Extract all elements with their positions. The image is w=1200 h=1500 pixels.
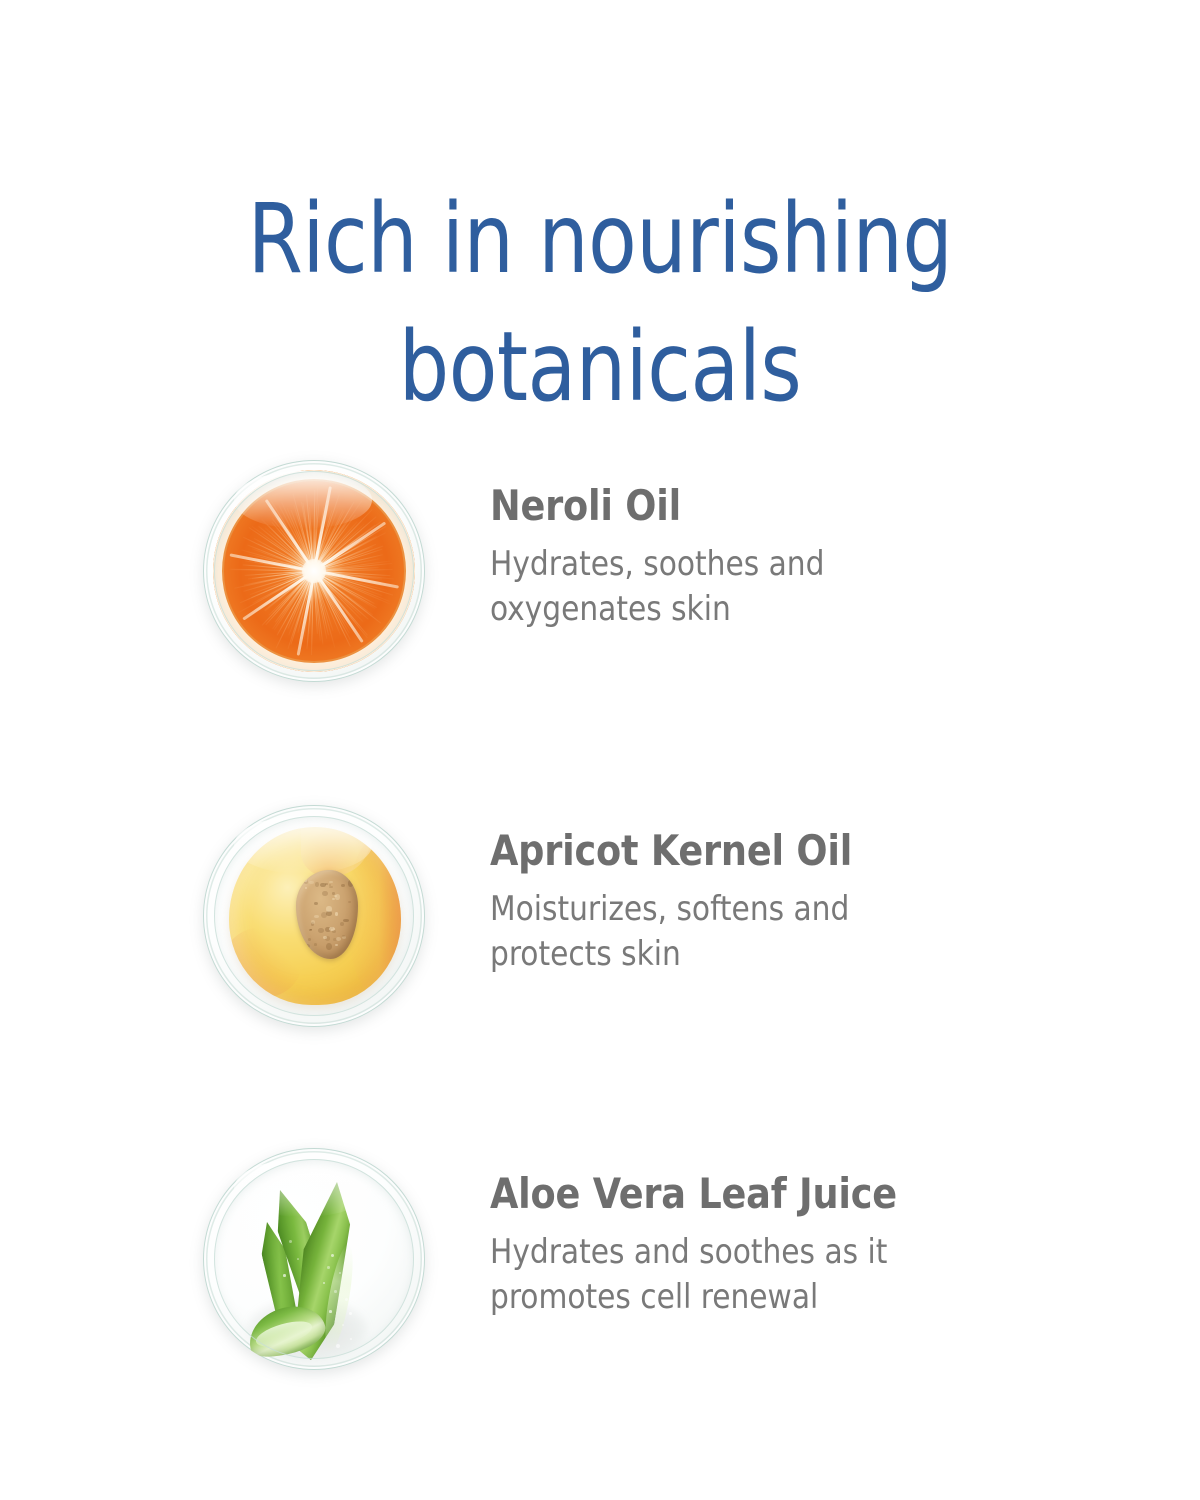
dish-contents: [203, 1148, 425, 1370]
ingredient-text-block: Apricot Kernel Oil Moisturizes, softens …: [490, 829, 1090, 978]
aloe-water-droplet: [329, 1310, 332, 1313]
ingredient-description: Hydrates and soothes as it promotes cell…: [490, 1230, 994, 1320]
ingredient-row-aloe-vera-leaf-juice: Aloe Vera Leaf Juice Hydrates and soothe…: [0, 1138, 1200, 1378]
aloe-water-droplet: [334, 1290, 337, 1293]
petri-dish: [203, 460, 425, 682]
aloe-water-droplet: [283, 1274, 286, 1277]
peach-skin-edge-left: [229, 927, 302, 998]
ingredient-infographic: Rich in nourishing botanicals Neroli Oil…: [0, 0, 1200, 1500]
ingredient-row-apricot-kernel-oil: Apricot Kernel Oil Moisturizes, softens …: [0, 795, 1200, 1035]
ingredient-title: Aloe Vera Leaf Juice: [490, 1172, 1072, 1216]
aloe-water-droplet: [323, 1282, 325, 1284]
petri-dish: [203, 1148, 425, 1370]
ingredient-image-peach-half-in-petri-dish: [195, 795, 435, 1035]
aloe-water-droplet: [297, 1258, 299, 1260]
petri-dish: [203, 805, 425, 1027]
aloe-water-droplet: [350, 1338, 352, 1340]
orange-rind: [213, 470, 415, 672]
peach-pit: [296, 870, 358, 959]
ingredient-row-neroli-oil: Neroli Oil Hydrates, soothes and oxygena…: [0, 450, 1200, 690]
page-title: Rich in nourishing botanicals: [48, 176, 1152, 431]
ingredient-title: Neroli Oil: [490, 484, 1072, 528]
aloe-water-droplet: [327, 1266, 330, 1269]
ingredient-image-aloe-vera-leaves-in-petri-dish: [195, 1138, 435, 1378]
ingredient-image-orange-slice-in-petri-dish: [195, 450, 435, 690]
ingredient-description: Moisturizes, softens and protects skin: [490, 887, 994, 977]
ingredient-description: Hydrates, soothes and oxygenates skin: [490, 542, 994, 632]
ingredient-title: Apricot Kernel Oil: [490, 829, 1072, 873]
orange-slice-icon: [213, 470, 415, 672]
aloe-water-droplet: [336, 1344, 340, 1348]
ingredient-text-block: Aloe Vera Leaf Juice Hydrates and soothe…: [490, 1172, 1090, 1321]
aloe-water-droplet: [353, 1276, 355, 1278]
aloe-water-droplet: [331, 1254, 334, 1257]
dish-contents: [203, 460, 425, 682]
aloe-water-droplet: [345, 1298, 348, 1301]
dish-contents: [203, 805, 425, 1027]
peach-half-icon: [229, 827, 401, 1005]
ingredient-text-block: Neroli Oil Hydrates, soothes and oxygena…: [490, 484, 1090, 633]
